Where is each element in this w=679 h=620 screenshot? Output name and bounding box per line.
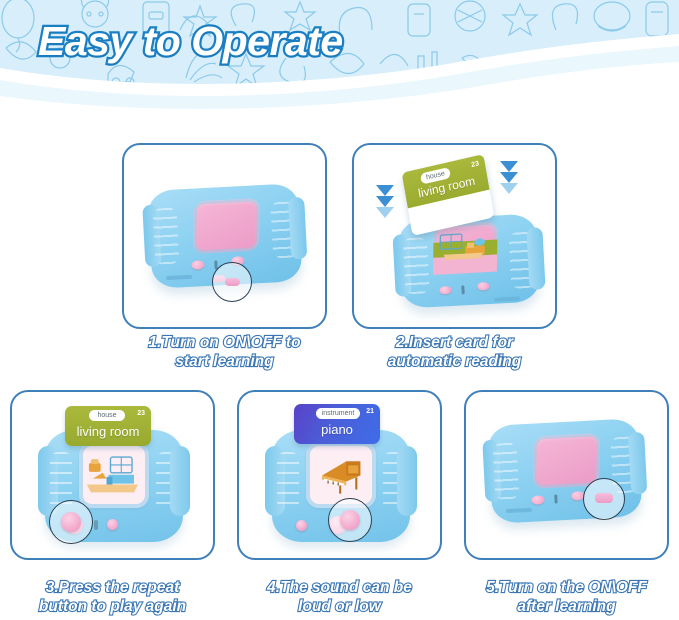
speaker-icon (554, 494, 557, 503)
device-screen (433, 221, 498, 274)
card-number: 21 (366, 408, 374, 415)
step-2-scene: house 23 living room (354, 145, 555, 327)
device-screen (306, 442, 376, 508)
step-2-image-frame: house 23 living room (352, 143, 557, 329)
living-room-illustration (438, 229, 492, 268)
inserted-card[interactable]: house 23 living room (65, 406, 151, 446)
step-5-image-frame (464, 390, 669, 560)
device-ridges-right (383, 452, 405, 510)
repeat-button-magnified[interactable] (61, 512, 81, 532)
repeat-button[interactable] (191, 260, 204, 270)
card-word: living room (65, 424, 151, 439)
device-ridges-right (270, 201, 297, 258)
page-title: Easy to Operate (38, 18, 343, 65)
step-2-caption: 2.Insert card for automatic reading (342, 333, 567, 371)
step-1-caption: 1.Turn on ON\OFF to start learning (112, 333, 337, 371)
power-slider-magnified[interactable] (225, 278, 240, 286)
volume-button[interactable] (107, 519, 118, 530)
step-1-scene (124, 145, 325, 327)
step-4-scene: instrument 21 piano (239, 392, 440, 558)
device-screen (193, 198, 260, 254)
step-4-image-frame: instrument 21 piano (237, 390, 442, 560)
card-word: piano (294, 422, 380, 437)
card-slot (506, 508, 532, 513)
device-ridges-left (492, 443, 519, 500)
step-1-image-frame (122, 143, 327, 329)
device-ridges-right (156, 452, 178, 510)
device-screen (533, 433, 600, 489)
repeat-button[interactable] (531, 495, 544, 505)
device-ridges-left (277, 452, 299, 510)
speaker-icon (94, 520, 98, 530)
card-category-badge: house (89, 410, 125, 421)
step-5-caption: 5.Turn on the ON\OFF after learning (454, 578, 679, 616)
card-category-badge: instrument (316, 408, 360, 419)
step-5-scene (466, 392, 667, 558)
living-room-illustration (85, 451, 144, 499)
device-screen (79, 442, 149, 508)
device-ridges-left (403, 237, 430, 294)
device-ridges-left (152, 208, 179, 265)
device-ridges-right (509, 232, 536, 289)
inserted-card[interactable]: instrument 21 piano (294, 404, 380, 444)
card-number: 23 (137, 410, 145, 417)
power-slider-magnified[interactable] (595, 493, 613, 503)
volume-button-magnified[interactable] (340, 510, 360, 530)
repeat-button[interactable] (296, 520, 307, 531)
repeat-button[interactable] (439, 286, 451, 295)
card-slot (494, 296, 520, 301)
speaker-icon (461, 285, 464, 294)
page-header: Easy to Operate (0, 0, 679, 110)
step-3-caption: 3.Press the repeat button to play again (0, 578, 225, 616)
step-3-scene: house 23 living room (12, 392, 213, 558)
card-slot (166, 275, 192, 280)
step-3-image-frame: house 23 living room (10, 390, 215, 560)
step-4-caption: 4.The sound can be loud or low (227, 578, 452, 616)
volume-button[interactable] (477, 282, 489, 291)
piano-illustration (316, 453, 366, 498)
